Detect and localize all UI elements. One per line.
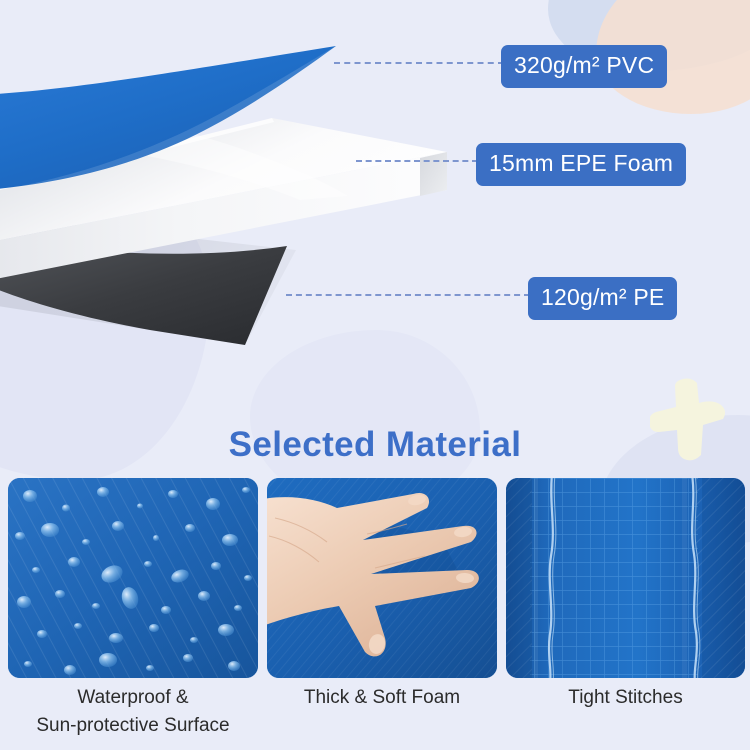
section-title: Selected Material	[0, 425, 750, 465]
caption-waterproof-line2: Sun-protective Surface	[8, 712, 258, 740]
caption-stitches: Tight Stitches	[506, 684, 745, 739]
caption-stitches-line1: Tight Stitches	[506, 684, 745, 712]
feature-photo-waterproof	[8, 478, 258, 678]
caption-foam: Thick & Soft Foam	[267, 684, 497, 739]
caption-foam-line1: Thick & Soft Foam	[267, 684, 497, 712]
infographic-page: 320g/m² PVC 15mm EPE Foam 120g/m² PE Sel…	[0, 0, 750, 750]
feature-photo-stitches	[506, 478, 745, 678]
leader-line-pvc	[334, 62, 504, 64]
callout-badge-epe: 15mm EPE Foam	[476, 143, 686, 186]
caption-waterproof-line1: Waterproof &	[8, 684, 258, 712]
feature-photo-row	[8, 478, 745, 678]
leader-line-pe	[286, 294, 530, 296]
stitched-seam-image	[506, 478, 745, 678]
callout-badge-pvc: 320g/m² PVC	[501, 45, 667, 88]
hand-on-fabric-image	[267, 478, 497, 678]
water-droplets-image	[8, 478, 258, 678]
leader-line-epe	[356, 160, 478, 162]
feature-photo-foam	[267, 478, 497, 678]
feature-caption-row: Waterproof & Sun-protective Surface Thic…	[8, 684, 745, 739]
material-cross-section-illustration	[0, 0, 470, 380]
callout-badge-pe: 120g/m² PE	[528, 277, 677, 320]
caption-waterproof: Waterproof & Sun-protective Surface	[8, 684, 258, 739]
